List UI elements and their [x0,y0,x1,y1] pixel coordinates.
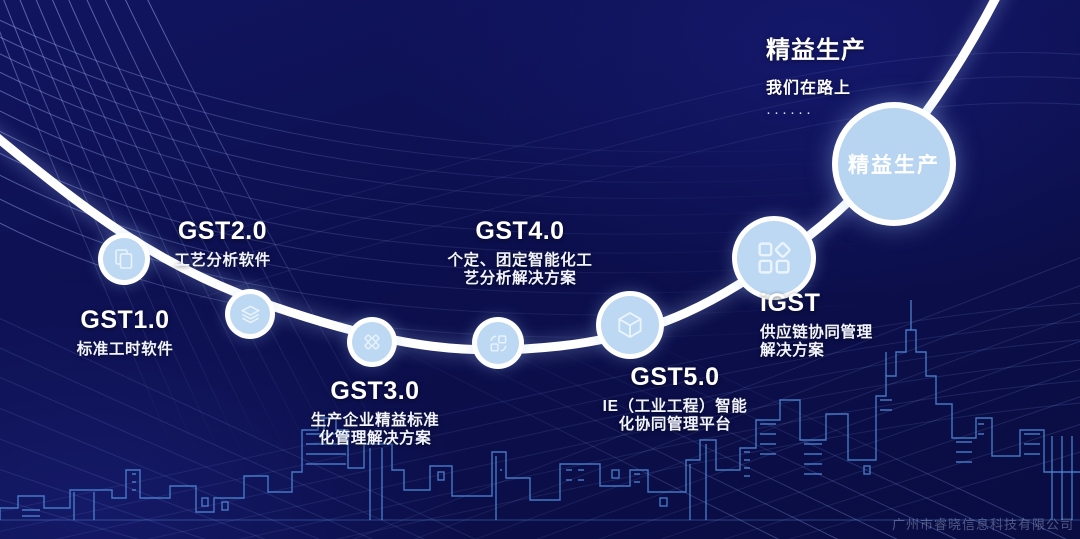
label-gst3: GST3.0 生产企业精益标准 化管理解决方案 [265,376,485,449]
node-gst4[interactable] [477,322,519,364]
label-igst: iGST 供应链协同管理 解决方案 [760,288,970,361]
label-gst5-title: GST5.0 [560,362,790,393]
label-gst5: GST5.0 IE（工业工程）智能 化协同管理平台 [560,362,790,435]
label-gst4-desc: 个定、团定智能化工 艺分析解决方案 [400,252,640,290]
label-gst3-desc: 生产企业精益标准 化管理解决方案 [265,412,485,450]
label-gst4: GST4.0 个定、团定智能化工 艺分析解决方案 [400,216,640,289]
grid-diamond-icon [753,237,795,279]
headline-secondary: 我们在路上 [766,74,866,98]
node-lean-production[interactable]: 精益生产 [838,108,950,220]
label-igst-desc: 供应链协同管理 解决方案 [760,324,970,362]
label-gst2-desc: 工艺分析软件 [115,252,330,271]
roadmap-banner: 精益生产 我们在路上 ······ 精益生产 GST1.0 标准工时软件 GST… [0,0,1080,539]
node-igst[interactable] [737,221,811,295]
squares-arrows-icon [487,332,510,355]
watermark: 广州市睿晓信息科技有限公司 [892,514,1074,533]
node-gst2[interactable] [230,294,270,334]
label-gst4-title: GST4.0 [400,216,640,247]
label-gst5-desc: IE（工业工程）智能 化协同管理平台 [560,398,790,436]
layers-stack-icon [239,303,262,326]
headline-primary: 精益生产 [766,30,866,65]
headline-dots: ······ [766,104,866,121]
label-gst3-title: GST3.0 [265,376,485,407]
label-gst2-title: GST2.0 [115,216,330,247]
node-lean-production-label: 精益生产 [848,149,940,179]
headline-block: 精益生产 我们在路上 ······ [766,30,866,121]
cube-3d-icon [614,309,646,341]
four-diamonds-icon [361,331,383,353]
label-gst2: GST2.0 工艺分析软件 [115,216,330,270]
node-gst5[interactable] [601,296,659,354]
node-gst3[interactable] [352,322,392,362]
label-gst1-title: GST1.0 [40,305,210,336]
label-gst1: GST1.0 标准工时软件 [40,305,210,359]
label-gst1-desc: 标准工时软件 [40,341,210,360]
label-igst-title: iGST [760,288,970,319]
